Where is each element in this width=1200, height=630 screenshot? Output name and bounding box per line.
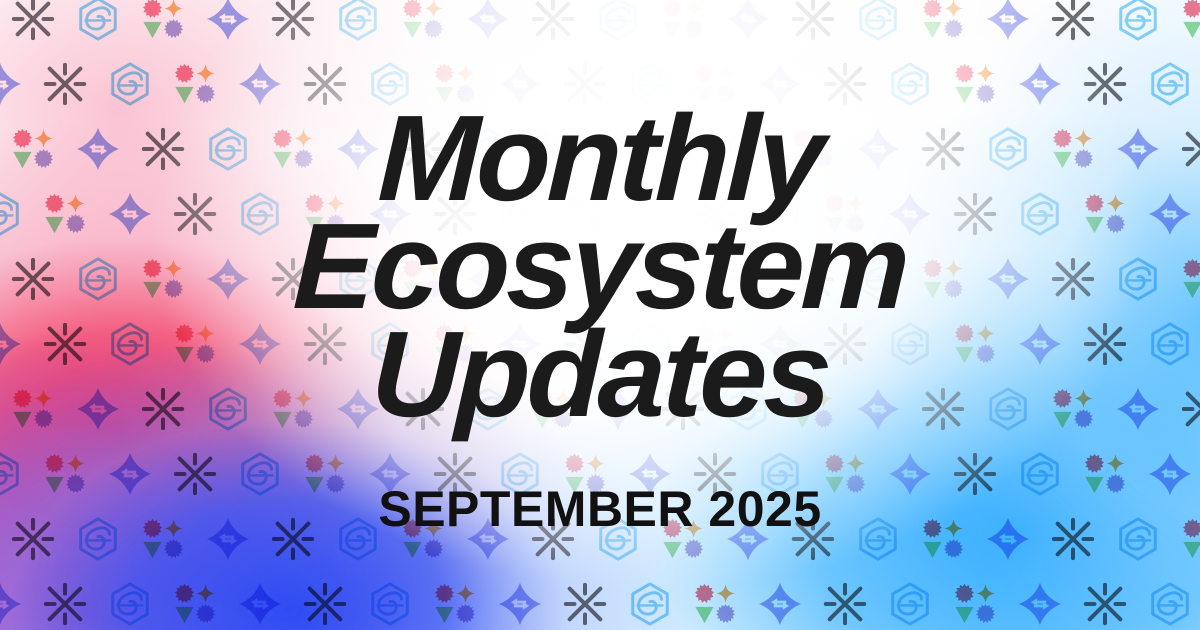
- poster-canvas: Monthly Ecosystem Updates SEPTEMBER 2025: [0, 0, 1200, 630]
- gradient-blob-cyan-edge: [900, 0, 1200, 630]
- gradient-wash-layer: [0, 0, 1200, 630]
